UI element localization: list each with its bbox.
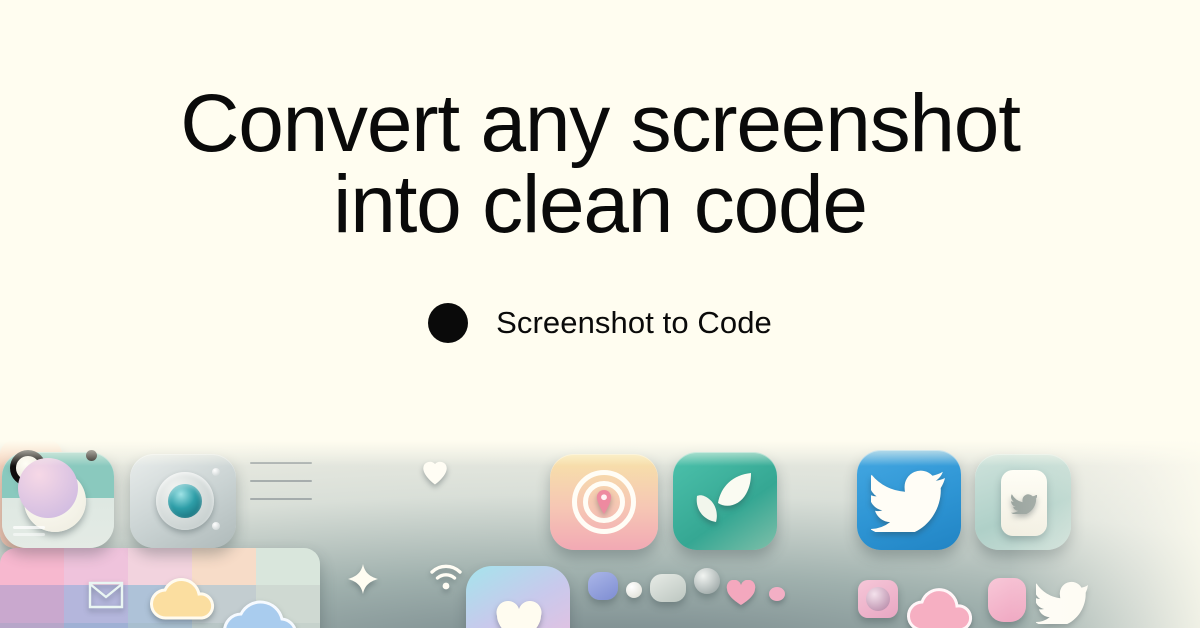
mint-card-tile xyxy=(975,454,1071,550)
cloud-icon xyxy=(906,584,982,628)
card-dot-icon xyxy=(86,450,97,461)
camera-lens-icon xyxy=(168,484,202,518)
cloud-icon xyxy=(222,592,312,628)
grid-swatch xyxy=(0,623,64,628)
headline-line-1: Convert any screenshot xyxy=(180,78,1020,169)
brand-name: Screenshot to Code xyxy=(496,305,772,341)
pearl-bead xyxy=(626,582,642,598)
brand-row: Screenshot to Code xyxy=(428,303,772,343)
cloud-icon xyxy=(150,572,224,620)
lens-icon xyxy=(866,587,890,611)
leaf-bird-tile xyxy=(673,452,777,550)
wire-line xyxy=(250,498,312,500)
location-pin-icon xyxy=(594,490,614,514)
bead-icon xyxy=(768,586,786,602)
camera-dot-icon xyxy=(212,522,220,530)
sparkle-icon xyxy=(348,564,378,594)
grid-swatch xyxy=(256,548,320,585)
twitter-bird-icon xyxy=(1036,580,1090,624)
filled-circle-icon xyxy=(428,303,468,343)
mini-camera-chip xyxy=(650,574,686,602)
wifi-icon xyxy=(428,562,464,592)
grid-swatch xyxy=(64,623,128,628)
plate-inner-disc xyxy=(18,458,78,518)
pink-badge-chip xyxy=(988,578,1026,622)
grid-swatch xyxy=(0,585,64,622)
wire-line xyxy=(250,462,312,464)
grid-swatch xyxy=(128,623,192,628)
wire-line xyxy=(250,480,312,482)
heart-icon xyxy=(420,458,450,486)
heart-icon xyxy=(726,580,756,606)
location-pin-tile xyxy=(550,454,658,550)
camera-dot-icon xyxy=(212,468,220,476)
panel-bar xyxy=(13,526,45,529)
camera-tile xyxy=(130,454,236,548)
headline-line-2: into clean code xyxy=(333,159,867,250)
leaf-icon xyxy=(693,470,759,532)
page-title: Convert any screenshot into clean code xyxy=(180,83,1020,245)
panel-bar xyxy=(13,533,45,536)
heart-tile xyxy=(466,566,570,628)
twitter-tile xyxy=(857,450,961,550)
og-card: Convert any screenshot into clean code S… xyxy=(0,0,1200,628)
pink-square-chip xyxy=(858,580,898,618)
heart-icon xyxy=(494,600,544,628)
envelope-icon xyxy=(88,580,124,610)
twitter-bird-icon xyxy=(871,470,947,532)
white-mini-card xyxy=(1001,470,1047,536)
hero-text-block: Convert any screenshot into clean code S… xyxy=(0,0,1200,440)
twitter-bird-icon xyxy=(1011,492,1037,514)
grid-swatch xyxy=(0,548,64,585)
blue-chip xyxy=(588,572,618,600)
ring-chip xyxy=(694,568,720,594)
app-icon-collage xyxy=(0,440,1200,628)
